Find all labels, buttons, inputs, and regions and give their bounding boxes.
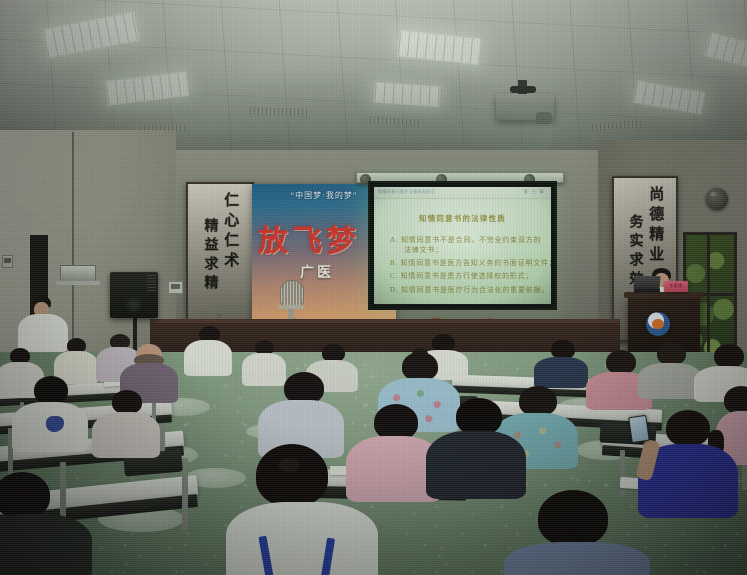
wall-clock xyxy=(706,188,728,210)
head-hair xyxy=(0,472,50,518)
head-hair xyxy=(374,404,418,440)
attendee-r6-navy xyxy=(534,340,590,386)
desk-leg-6 xyxy=(182,458,188,530)
head-hair xyxy=(112,390,142,414)
torso xyxy=(0,514,92,575)
torso xyxy=(226,502,378,575)
attendee-r4-dark xyxy=(426,398,530,494)
wall-shelf xyxy=(56,281,100,285)
wall-outlet-panel[interactable] xyxy=(168,281,183,294)
slide-option-a-key: A. xyxy=(390,236,398,244)
attendee-r1-d xyxy=(184,326,234,374)
pa-speaker-cone xyxy=(126,296,142,312)
slide-header-left-text: 知情同意与医疗法律风险防范 xyxy=(378,189,435,195)
slide-option-c: C. 知情同意书是患方行使选择权的形式； xyxy=(390,271,541,281)
slide-header-right-text: 第 三 章 xyxy=(524,189,545,195)
head-hair xyxy=(606,350,636,374)
torso xyxy=(638,363,702,399)
pa-loudspeaker xyxy=(110,272,158,318)
slide-option-c-key: C. xyxy=(390,272,398,280)
torso xyxy=(534,357,588,388)
slide-option-c-text: 知情同意书是患方行使选择权的形式； xyxy=(401,272,534,280)
lecture-hall-photo: 仁心仁术 精益求精 广医附院 尚德精业 务实求效 广医附院 “中国梦·我的梦” … xyxy=(0,0,747,575)
slide-option-b-key: B. xyxy=(390,259,398,267)
attendee-r3-front-lanyard xyxy=(226,444,386,575)
slide-options-list: A. 知情同意书不是合同，不完全约束双方的 法律文书； B. 知情同意书是医方告… xyxy=(390,235,541,298)
pa-speaker-vents xyxy=(147,275,156,291)
attendee-front-left-partial xyxy=(0,472,96,575)
slide-option-b-text: 知情同意书是医方告知义务的书面证明文件； xyxy=(401,259,551,267)
presentation-slide: 知情同意与医疗法律风险防范 第 三 章 知情同意书的法律性质 A. 知情同意书不… xyxy=(374,187,551,304)
attendee-front-right-partial xyxy=(504,490,654,575)
slide-option-d-text: 知情同意书是医疗行为合法化的重要依据。 xyxy=(401,286,549,294)
slide-option-a-text: 知情同意书不是合同，不完全约束双方的 xyxy=(401,236,541,244)
head-hair xyxy=(657,342,686,365)
slide-title: 知情同意书的法律性质 xyxy=(374,213,551,224)
wall-control-panel[interactable] xyxy=(2,255,13,268)
slide-option-a: A. 知情同意书不是合同，不完全约束双方的 法律文书； xyxy=(390,235,541,255)
speaker-name-sign-text: 专家席 xyxy=(664,283,688,289)
torso xyxy=(426,431,526,499)
wall-corner-edge xyxy=(72,132,74,347)
attendee-r2-blue-star xyxy=(12,376,92,450)
slide-option-b: B. 知情同意书是医方告知义务的书面证明文件； xyxy=(390,258,541,268)
slide-option-d: D. 知情同意书是医疗行为合法化的重要依据。 xyxy=(390,285,541,295)
phone-screen xyxy=(629,416,648,442)
torso xyxy=(92,412,160,458)
stage-edge xyxy=(150,319,620,323)
torso xyxy=(504,542,650,575)
institution-emblem xyxy=(646,312,670,336)
attendee-mid-blue xyxy=(258,372,348,454)
smartphone[interactable] xyxy=(628,415,649,443)
slide-header-bar: 知情同意与医疗法律风险防范 第 三 章 xyxy=(374,187,551,199)
hair-bun xyxy=(412,348,428,360)
laptop-screen xyxy=(633,276,660,289)
speaker-name-sign: 专家席 xyxy=(664,281,688,292)
head-hair xyxy=(714,344,744,368)
torso xyxy=(184,340,232,376)
hair-bun xyxy=(278,458,300,472)
head-hair xyxy=(666,410,710,446)
projection-screen: 知情同意与医疗法律风险防范 第 三 章 知情同意书的法律性质 A. 知情同意书不… xyxy=(368,181,557,310)
attendee-r2-b xyxy=(92,390,164,456)
slide-option-d-key: D. xyxy=(390,286,398,294)
slide-option-a-cont: 法律文书； xyxy=(390,245,541,255)
banner-subtitle: 广医 xyxy=(300,262,334,282)
head-hair xyxy=(456,398,502,435)
head-hair xyxy=(256,444,328,506)
